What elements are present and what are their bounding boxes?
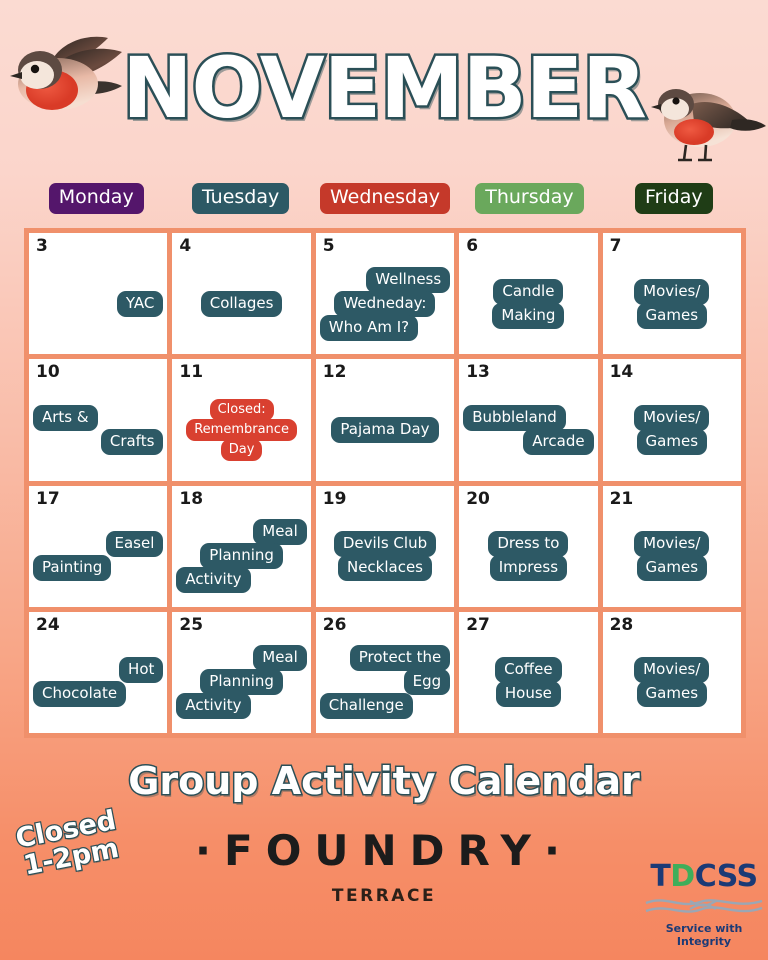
activity-line: Making — [492, 303, 564, 329]
activity-label: CandleMaking — [459, 257, 597, 350]
day-header-monday: Monday — [49, 183, 144, 214]
activity-line: Pajama Day — [331, 417, 438, 443]
tdcss-tagline: Service with Integrity — [640, 922, 768, 948]
activity-label: Devils ClubNecklaces — [316, 510, 454, 603]
activity-label: CoffeeHouse — [459, 636, 597, 729]
activity-line: Egg — [404, 669, 451, 695]
day-number: 27 — [466, 615, 490, 635]
day-number: 5 — [323, 236, 335, 256]
calendar-day-cell[interactable]: 10Arts &Crafts — [29, 359, 167, 480]
activity-label: Movies/Games — [603, 510, 741, 603]
day-number: 3 — [36, 236, 48, 256]
closed-notice: Closed:RemembranceDay — [172, 383, 310, 476]
day-number: 17 — [36, 489, 60, 509]
calendar-day-cell[interactable]: 21Movies/Games — [603, 486, 741, 607]
activity-line: Chocolate — [33, 681, 126, 707]
calendar-day-cell[interactable]: 11Closed:RemembranceDay — [172, 359, 310, 480]
activity-line: Activity — [176, 567, 250, 593]
activity-line: Arcade — [523, 429, 593, 455]
calendar-day-cell[interactable]: 26Protect theEggChallenge — [316, 612, 454, 733]
day-number: 28 — [610, 615, 634, 635]
day-number: 25 — [179, 615, 203, 635]
activity-line: Who Am I? — [320, 315, 418, 341]
calendar-day-cell[interactable]: 24HotChocolate — [29, 612, 167, 733]
activity-line: Games — [637, 429, 707, 455]
activity-label: WellnessWedneday:Who Am I? — [316, 257, 454, 350]
day-number: 11 — [179, 362, 203, 382]
activity-line: YAC — [117, 291, 163, 317]
activity-label: BubblelandArcade — [459, 383, 597, 476]
calendar-day-cell[interactable]: 14Movies/Games — [603, 359, 741, 480]
day-header-thursday: Thursday — [475, 183, 583, 214]
activity-label: Movies/Games — [603, 636, 741, 729]
day-number: 18 — [179, 489, 203, 509]
activity-label: Pajama Day — [316, 383, 454, 476]
calendar-day-cell[interactable]: 17EaselPainting — [29, 486, 167, 607]
calendar-day-cell[interactable]: 7Movies/Games — [603, 233, 741, 354]
day-number: 12 — [323, 362, 347, 382]
activity-line: Games — [637, 303, 707, 329]
activity-line: Coffee — [495, 657, 561, 683]
calendar-day-cell[interactable]: 25MealPlanningActivity — [172, 612, 310, 733]
day-number: 19 — [323, 489, 347, 509]
day-number: 6 — [466, 236, 478, 256]
perched-bird-icon — [648, 72, 768, 177]
calendar-day-cell[interactable]: 6CandleMaking — [459, 233, 597, 354]
activity-line: Challenge — [320, 693, 413, 719]
activity-line: Planning — [200, 669, 283, 695]
day-number: 10 — [36, 362, 60, 382]
weekday-cell: Thursday — [457, 183, 601, 219]
calendar-day-cell[interactable]: 5WellnessWedneday:Who Am I? — [316, 233, 454, 354]
activity-line: Arts & — [33, 405, 98, 431]
activity-line: Meal — [253, 519, 307, 545]
calendar-day-cell[interactable]: 18MealPlanningActivity — [172, 486, 310, 607]
activity-label: Dress toImpress — [459, 510, 597, 603]
activity-line: Movies/ — [634, 531, 709, 557]
weekday-header-row: Monday Tuesday Wednesday Thursday Friday — [24, 183, 746, 219]
activity-line: House — [496, 681, 561, 707]
activity-label: Protect theEggChallenge — [316, 636, 454, 729]
weekday-cell: Tuesday — [168, 183, 312, 219]
activity-line: Closed: — [210, 399, 274, 421]
activity-label: Movies/Games — [603, 383, 741, 476]
day-number: 4 — [179, 236, 191, 256]
footer-title: Group Activity Calendar — [0, 762, 768, 800]
day-number: 26 — [323, 615, 347, 635]
calendar-day-cell[interactable]: 4Collages — [172, 233, 310, 354]
weekday-cell: Wednesday — [313, 183, 457, 219]
wave-icon — [644, 893, 764, 919]
activity-line: Day — [221, 439, 263, 461]
activity-line: Planning — [200, 543, 283, 569]
weekday-cell: Monday — [24, 183, 168, 219]
activity-line: Devils Club — [334, 531, 436, 557]
calendar-grid: 3YAC4Collages5WellnessWedneday:Who Am I?… — [24, 228, 746, 738]
activity-label: Collages — [172, 257, 310, 350]
activity-line: Movies/ — [634, 405, 709, 431]
activity-line: Activity — [176, 693, 250, 719]
tdcss-wordmark: TDCSS — [640, 862, 768, 892]
activity-line: Movies/ — [634, 657, 709, 683]
calendar-day-cell[interactable]: 3YAC — [29, 233, 167, 354]
activity-line: Bubbleland — [463, 405, 566, 431]
activity-line: Easel — [106, 531, 164, 557]
activity-line: Protect the — [350, 645, 450, 671]
activity-line: Meal — [253, 645, 307, 671]
day-header-tuesday: Tuesday — [192, 183, 289, 214]
activity-line: Remembrance — [186, 419, 297, 441]
activity-line: Wellness — [366, 267, 450, 293]
calendar-day-cell[interactable]: 28Movies/Games — [603, 612, 741, 733]
calendar-day-cell[interactable]: 13BubblelandArcade — [459, 359, 597, 480]
activity-line: Crafts — [101, 429, 164, 455]
tdcss-letter-d: D — [670, 859, 694, 894]
day-number: 21 — [610, 489, 634, 509]
day-number: 13 — [466, 362, 490, 382]
activity-line: Necklaces — [338, 555, 432, 581]
activity-line: Dress to — [488, 531, 568, 557]
tdcss-letter-t: T — [650, 859, 670, 894]
activity-label: YAC — [29, 257, 167, 350]
activity-line: Wedneday: — [334, 291, 435, 317]
header: NOVEMBER — [0, 0, 768, 170]
activity-line: Games — [637, 681, 707, 707]
activity-line: Collages — [201, 291, 283, 317]
activity-label: MealPlanningActivity — [172, 636, 310, 729]
day-number: 14 — [610, 362, 634, 382]
day-number: 7 — [610, 236, 622, 256]
activity-label: Arts &Crafts — [29, 383, 167, 476]
day-number: 24 — [36, 615, 60, 635]
activity-line: Games — [637, 555, 707, 581]
tdcss-letters-css: CSS — [695, 859, 758, 894]
calendar-day-cell[interactable]: 20Dress toImpress — [459, 486, 597, 607]
footer: Group Activity Calendar Closed 1-2pm ·FO… — [0, 744, 768, 960]
activity-line: Movies/ — [634, 279, 709, 305]
activity-line: Candle — [493, 279, 563, 305]
activity-label: HotChocolate — [29, 636, 167, 729]
day-header-wednesday: Wednesday — [320, 183, 450, 214]
activity-label: EaselPainting — [29, 510, 167, 603]
day-number: 20 — [466, 489, 490, 509]
tdcss-logo: TDCSS Service with Integrity — [640, 862, 768, 948]
calendar-day-cell[interactable]: 19Devils ClubNecklaces — [316, 486, 454, 607]
activity-line: Hot — [119, 657, 163, 683]
activity-label: MealPlanningActivity — [172, 510, 310, 603]
day-header-friday: Friday — [635, 183, 713, 214]
weekday-cell: Friday — [602, 183, 746, 219]
calendar-day-cell[interactable]: 27CoffeeHouse — [459, 612, 597, 733]
activity-label: Movies/Games — [603, 257, 741, 350]
activity-line: Painting — [33, 555, 111, 581]
activity-line: Impress — [490, 555, 567, 581]
calendar-day-cell[interactable]: 12Pajama Day — [316, 359, 454, 480]
